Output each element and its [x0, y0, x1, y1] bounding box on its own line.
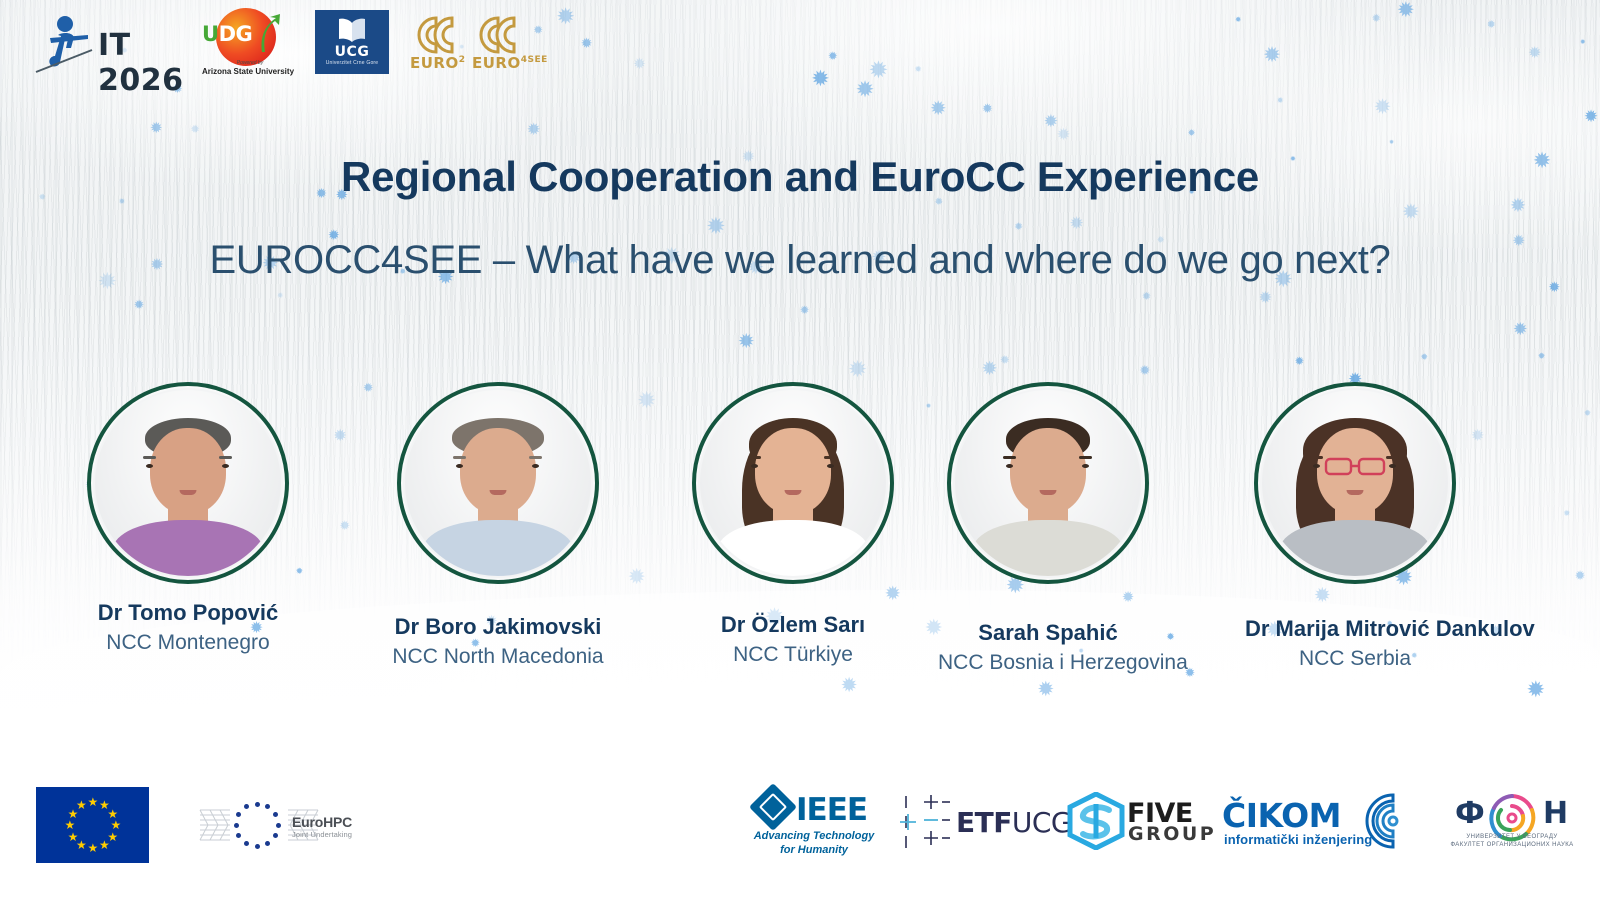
presentation-slide: ✹✹✹✹✹✹✹✹✹✹✹✹✹✹✹✹✹✹✹✹✹✹✹✹✹✹✹✹✹✹✹✹✹✹✹✹✹✹✹✹…: [0, 0, 1600, 900]
etf-bold: ETF: [956, 806, 1012, 839]
eurohpc-star-dot: [244, 841, 249, 846]
eurocc2-superscript: 2: [459, 55, 466, 65]
portrait-tomo-popovic: [87, 382, 289, 584]
eurohpc-star-dot: [236, 833, 241, 838]
eurohpc-star-dot: [265, 841, 270, 846]
speaker-card: Dr Tomo PopovićNCC Montenegro: [78, 382, 298, 655]
eurohpc-star-dot: [273, 833, 278, 838]
udg-letter-d: D: [219, 22, 236, 46]
speaker-affiliation: NCC Montenegro: [78, 631, 298, 655]
slide-subtitle: EUROCC4SEE – What have we learned and wh…: [0, 238, 1600, 283]
logo-five-group: FIVE GROUP: [1065, 792, 1200, 850]
logo-cikom: ČIKOM informatički inženjering: [1222, 792, 1422, 854]
speaker-card: Dr Marija Mitrović DankulovNCC Serbia: [1245, 382, 1465, 671]
logo-it-2026: IT 2026: [28, 6, 188, 80]
eu-flag-icon: ★★★★★★★★★★★★: [36, 787, 149, 863]
eurohpc-star-dot: [265, 804, 270, 809]
fon-subtitle-line2: ФАКУЛТЕТ ОРГАНИЗАЦИОНИХ НАУКА: [1432, 842, 1592, 848]
ucg-light: UCG: [1012, 806, 1072, 839]
fon-letter-n: Н: [1543, 796, 1569, 831]
eurohpc-star-dot: [255, 844, 260, 849]
skier-icon: [32, 14, 96, 76]
eu-star-icon: ★: [88, 796, 99, 808]
speaker-card: Sarah SpahićNCC Bosnia i Herzegovina: [938, 382, 1158, 675]
speaker-name: Dr Özlem Sarı: [683, 612, 903, 638]
eurohpc-title: EuroHPC: [292, 814, 352, 830]
cikom-spiral-icon: [1364, 792, 1422, 850]
eurocc4see-word: EURO: [472, 54, 521, 72]
ieee-tagline-line2: for Humanity: [750, 844, 878, 856]
logo-eurocc4see: EURO4SEE: [472, 14, 564, 76]
speaker-affiliation: NCC North Macedonia: [388, 645, 608, 669]
speakers-row: Dr Tomo PopovićNCC MontenegroDr Boro Jak…: [0, 382, 1600, 672]
eu-star-icon: ★: [65, 819, 76, 831]
speaker-name: Dr Boro Jakimovski: [388, 614, 608, 640]
eurohpc-star-dot: [255, 802, 260, 807]
speaker-name: Dr Marija Mitrović Dankulov: [1245, 616, 1465, 642]
hexagon-s-icon: [1065, 792, 1127, 850]
header-logo-bar: IT 2026 UDG Powered by Arizona State Uni…: [0, 0, 1600, 92]
eurohpc-star-dot: [236, 812, 241, 817]
slide-title: Regional Cooperation and EuroCC Experien…: [0, 153, 1600, 201]
cc-monogram-icon: [412, 14, 464, 56]
udg-powered-by: Powered by: [204, 60, 296, 66]
speaker-affiliation: NCC Türkiye: [683, 643, 903, 667]
portrait-marija-mitrovic-dankulov: [1254, 382, 1456, 584]
eu-star-icon: ★: [88, 842, 99, 854]
logo-fon: Ф Н УНИВЕРЗИТЕТ У БЕ: [1432, 792, 1592, 856]
speaker-affiliation: NCC Serbia: [1245, 647, 1465, 671]
eurohpc-ring-icon: [230, 798, 284, 852]
eu-star-icon: ★: [68, 831, 79, 843]
logo-udg: UDG Powered by Arizona State University: [198, 6, 294, 86]
footer-logo-bar: ★★★★★★★★★★★★ EuroHPC Joint Undertaking: [0, 780, 1600, 900]
ucg-label: UCG: [315, 44, 389, 60]
eurocc4see-label: EURO4SEE: [472, 54, 548, 72]
eurohpc-star-dot: [234, 823, 239, 828]
eurohpc-left-lines: [198, 806, 232, 844]
ucg-sublabel: Univerzitet Crne Gore: [315, 60, 389, 66]
etfucg-label: ETFUCG: [956, 806, 1072, 839]
portrait-sarah-spahic: [947, 382, 1149, 584]
logo-ieee: IEEE Advancing Technology for Humanity: [750, 784, 878, 862]
eurohpc-star-dot: [276, 823, 281, 828]
it-2026-label: IT 2026: [98, 28, 188, 98]
ieee-label: IEEE: [796, 792, 867, 828]
fon-subtitle-line1: УНИВЕРЗИТЕТ У БЕОГРАДУ: [1432, 834, 1592, 840]
speaker-card: Dr Özlem SarıNCC Türkiye: [683, 382, 903, 667]
portrait-ozlem-sari: [692, 382, 894, 584]
speaker-affiliation: NCC Bosnia i Herzegovina: [938, 651, 1158, 675]
fon-letter-f: Ф: [1455, 796, 1486, 831]
udg-letters: UDG: [202, 22, 272, 46]
eurohpc-subtitle: Joint Undertaking: [292, 830, 352, 839]
portrait-boro-jakimovski: [397, 382, 599, 584]
cikom-label: ČIKOM: [1222, 796, 1341, 835]
open-book-icon: [337, 17, 367, 43]
eurocc2-word: EURO: [410, 54, 459, 72]
speaker-card: Dr Boro JakimovskiNCC North Macedonia: [388, 382, 608, 669]
eurohpc-star-dot: [244, 804, 249, 809]
eurocc4see-superscript: 4SEE: [521, 55, 548, 65]
cikom-subtitle: informatički inženjering: [1224, 832, 1372, 847]
cc-monogram-icon: [474, 14, 526, 56]
group-label: GROUP: [1128, 823, 1216, 845]
udg-letter-u: U: [202, 22, 219, 46]
udg-asu-label: Arizona State University: [200, 67, 296, 76]
eurohpc-star-dot: [273, 812, 278, 817]
udg-letter-g: G: [236, 22, 253, 46]
logo-etfucg: ETFUCG: [898, 792, 1048, 854]
eurocc2-label: EURO2: [410, 54, 466, 72]
logo-ucg: UCG Univerzitet Crne Gore: [315, 10, 389, 74]
speaker-name: Sarah Spahić: [938, 620, 1158, 646]
ieee-tagline-line1: Advancing Technology: [750, 830, 878, 842]
eu-star-icon: ★: [76, 799, 87, 811]
ieee-diamond-icon: [749, 783, 797, 831]
logo-eurohpc: EuroHPC Joint Undertaking: [198, 794, 358, 856]
speaker-name: Dr Tomo Popović: [78, 600, 298, 626]
plus-grid-icon: [898, 794, 954, 850]
eu-star-icon: ★: [99, 839, 110, 851]
